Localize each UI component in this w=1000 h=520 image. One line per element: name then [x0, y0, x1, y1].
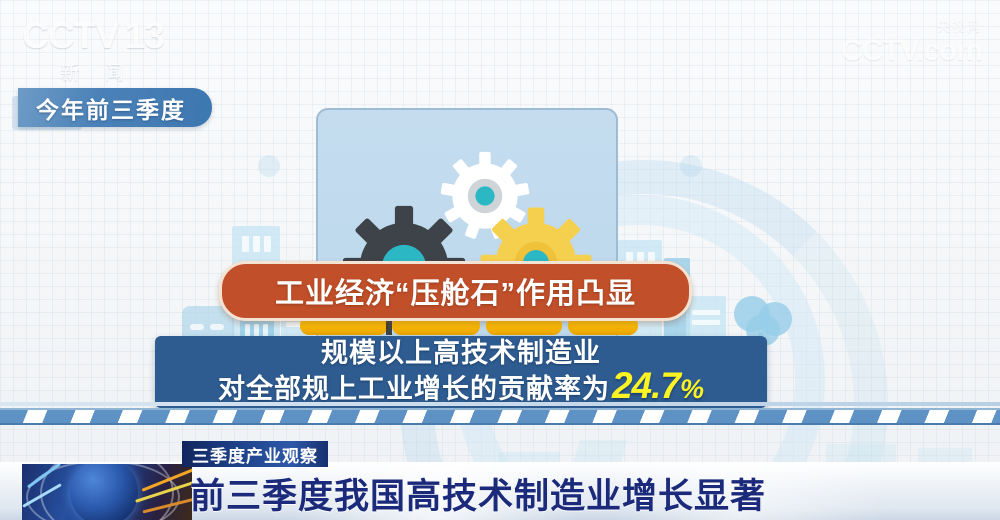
statistic-prefix: 对全部规上工业增长的贡献率为: [218, 372, 610, 406]
statistic-line-1: 规模以上高技术制造业: [321, 338, 601, 368]
background-shape: [573, 440, 628, 464]
watermark-main: CCTV: [841, 34, 916, 67]
top-badge-label: 今年前三季度: [36, 91, 186, 125]
background-window: [263, 324, 268, 336]
statistic-unit: %: [680, 372, 704, 406]
background-window: [242, 236, 249, 252]
headline-text: 前三季度我国高技术制造业增长显著: [190, 468, 766, 519]
background-dot: [258, 155, 280, 177]
background-window: [692, 320, 720, 325]
orange-banner: 工业经济“压舱石”作用凸显: [219, 261, 692, 321]
orange-banner-label: 工业经济“压舱石”作用凸显: [275, 270, 636, 312]
background-window: [264, 236, 271, 252]
background-window: [245, 324, 250, 336]
background-window: [253, 236, 260, 252]
background-window: [210, 324, 224, 330]
rail-highlight: [0, 402, 1000, 406]
background-window: [254, 324, 259, 336]
headline: 前三季度我国高技术制造业增长显著: [190, 470, 766, 516]
channel-logo: CCTV13 新 闻: [22, 16, 172, 88]
category-badge-label: 三季度产业观察: [192, 442, 318, 467]
channel-logo-sub: 新 闻: [22, 58, 172, 85]
watermark-suffix: .com: [916, 34, 982, 67]
background-dot: [680, 155, 702, 177]
broadcast-screenshot: CCTV13 新 闻 央视网 CCTV.com 今年前三季度 工业经济“压舱石”…: [0, 0, 1000, 520]
top-badge: 今年前三季度: [18, 88, 212, 127]
statistic-value: 24.7: [612, 369, 680, 403]
statistic-box: 规模以上高技术制造业 对全部规上工业增长的贡献率为 24.7 %: [155, 336, 767, 408]
statistic-line-2: 对全部规上工业增长的贡献率为 24.7 %: [218, 369, 704, 406]
striped-rail: [0, 408, 1000, 425]
watermark-cn: 央视网: [841, 16, 982, 35]
watermark: 央视网 CCTV.com: [841, 16, 982, 67]
globe-graphic: [22, 464, 192, 520]
category-badge: 三季度产业观察: [182, 441, 328, 467]
background-shape: [826, 444, 896, 464]
background-window: [190, 324, 204, 330]
background-window: [692, 310, 720, 315]
channel-logo-main: CCTV: [22, 15, 119, 56]
channel-logo-number: 13: [125, 15, 164, 56]
